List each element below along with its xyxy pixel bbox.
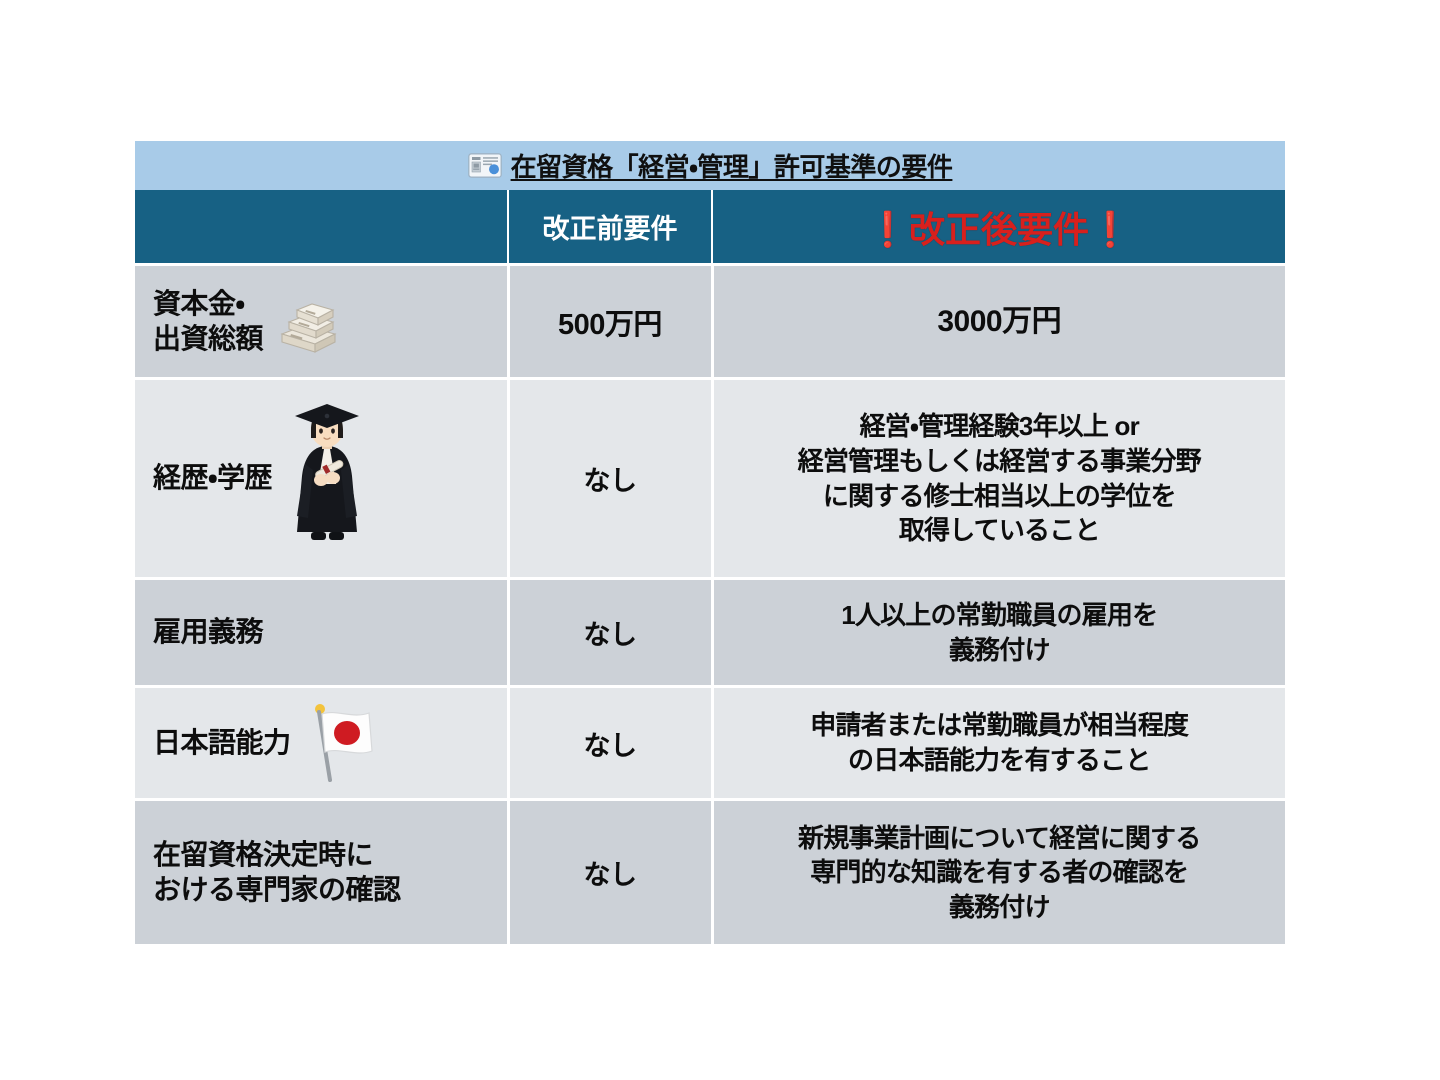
- table-row: 経歴・学歴: [135, 379, 1285, 579]
- header-after-text: 改正後要件: [909, 209, 1089, 250]
- table-row: 在留資格決定時に おける専門家の確認 なし 新規事業計画について経営に関する 専…: [135, 800, 1285, 945]
- row-before-cell: なし: [508, 579, 712, 687]
- exclamation-left-icon: ❗: [867, 210, 909, 250]
- row-after-cell: 新規事業計画について経営に関する 専門的な知識を有する者の確認を 義務付け: [712, 800, 1285, 945]
- money-stack-icon: [275, 290, 349, 354]
- row-item-label: 雇用義務: [153, 615, 263, 649]
- slide-canvas: 在留資格「経営・管理」許可基準の要件 改正前要件 ❗改正後要件❗: [0, 0, 1440, 1080]
- row-before-cell: なし: [508, 687, 712, 800]
- row-before-cell: なし: [508, 379, 712, 579]
- header-item-column: [135, 190, 508, 265]
- table-row: 資本金・ 出資総額: [135, 265, 1285, 379]
- requirements-comparison-table: 在留資格「経営・管理」許可基準の要件 改正前要件 ❗改正後要件❗: [135, 141, 1285, 944]
- table-title-row: 在留資格「経営・管理」許可基準の要件: [135, 141, 1285, 190]
- graduate-icon: [284, 404, 370, 554]
- row-item-cell: 日本語能力: [135, 687, 508, 800]
- row-before-cell: なし: [508, 800, 712, 945]
- row-item-label: 資本金・ 出資総額: [153, 287, 263, 355]
- row-item-cell: 在留資格決定時に おける専門家の確認: [135, 800, 508, 945]
- header-before-column: 改正前要件: [508, 190, 712, 265]
- row-item-label: 日本語能力: [153, 726, 291, 760]
- residence-card-icon: [468, 153, 502, 178]
- table-title-text: 在留資格「経営・管理」許可基準の要件: [511, 147, 953, 184]
- header-before-label: 改正前要件: [543, 214, 678, 244]
- row-item-cell: 経歴・学歴: [135, 379, 508, 579]
- header-after-label: ❗改正後要件❗: [867, 209, 1132, 250]
- exclamation-right-icon: ❗: [1089, 210, 1131, 250]
- row-item-cell: 雇用義務: [135, 579, 508, 687]
- row-after-cell: 申請者または常勤職員が相当程度 の日本語能力を有すること: [712, 687, 1285, 800]
- row-item-label: 経歴・学歴: [153, 461, 272, 495]
- table-row: 雇用義務 なし 1人以上の常勤職員の雇用を 義務付け: [135, 579, 1285, 687]
- table-title-cell: 在留資格「経営・管理」許可基準の要件: [135, 141, 1285, 190]
- row-after-cell: 1人以上の常勤職員の雇用を 義務付け: [712, 579, 1285, 687]
- row-item-cell: 資本金・ 出資総額: [135, 265, 508, 379]
- header-after-column: ❗改正後要件❗: [712, 190, 1285, 265]
- table-row: 日本語能力 なし 申請者または常勤職員が相当程度 の日本語能力を有すること: [135, 687, 1285, 800]
- row-after-cell: 経営・管理経験3年以上 or 経営管理もしくは経営する事業分野 に関する修士相当…: [712, 379, 1285, 579]
- row-before-cell: 500万円: [508, 265, 712, 379]
- row-after-cell: 3000万円: [712, 265, 1285, 379]
- table-header-row: 改正前要件 ❗改正後要件❗: [135, 190, 1285, 265]
- row-item-label: 在留資格決定時に おける専門家の確認: [153, 838, 401, 906]
- japan-flag-icon: [303, 700, 389, 786]
